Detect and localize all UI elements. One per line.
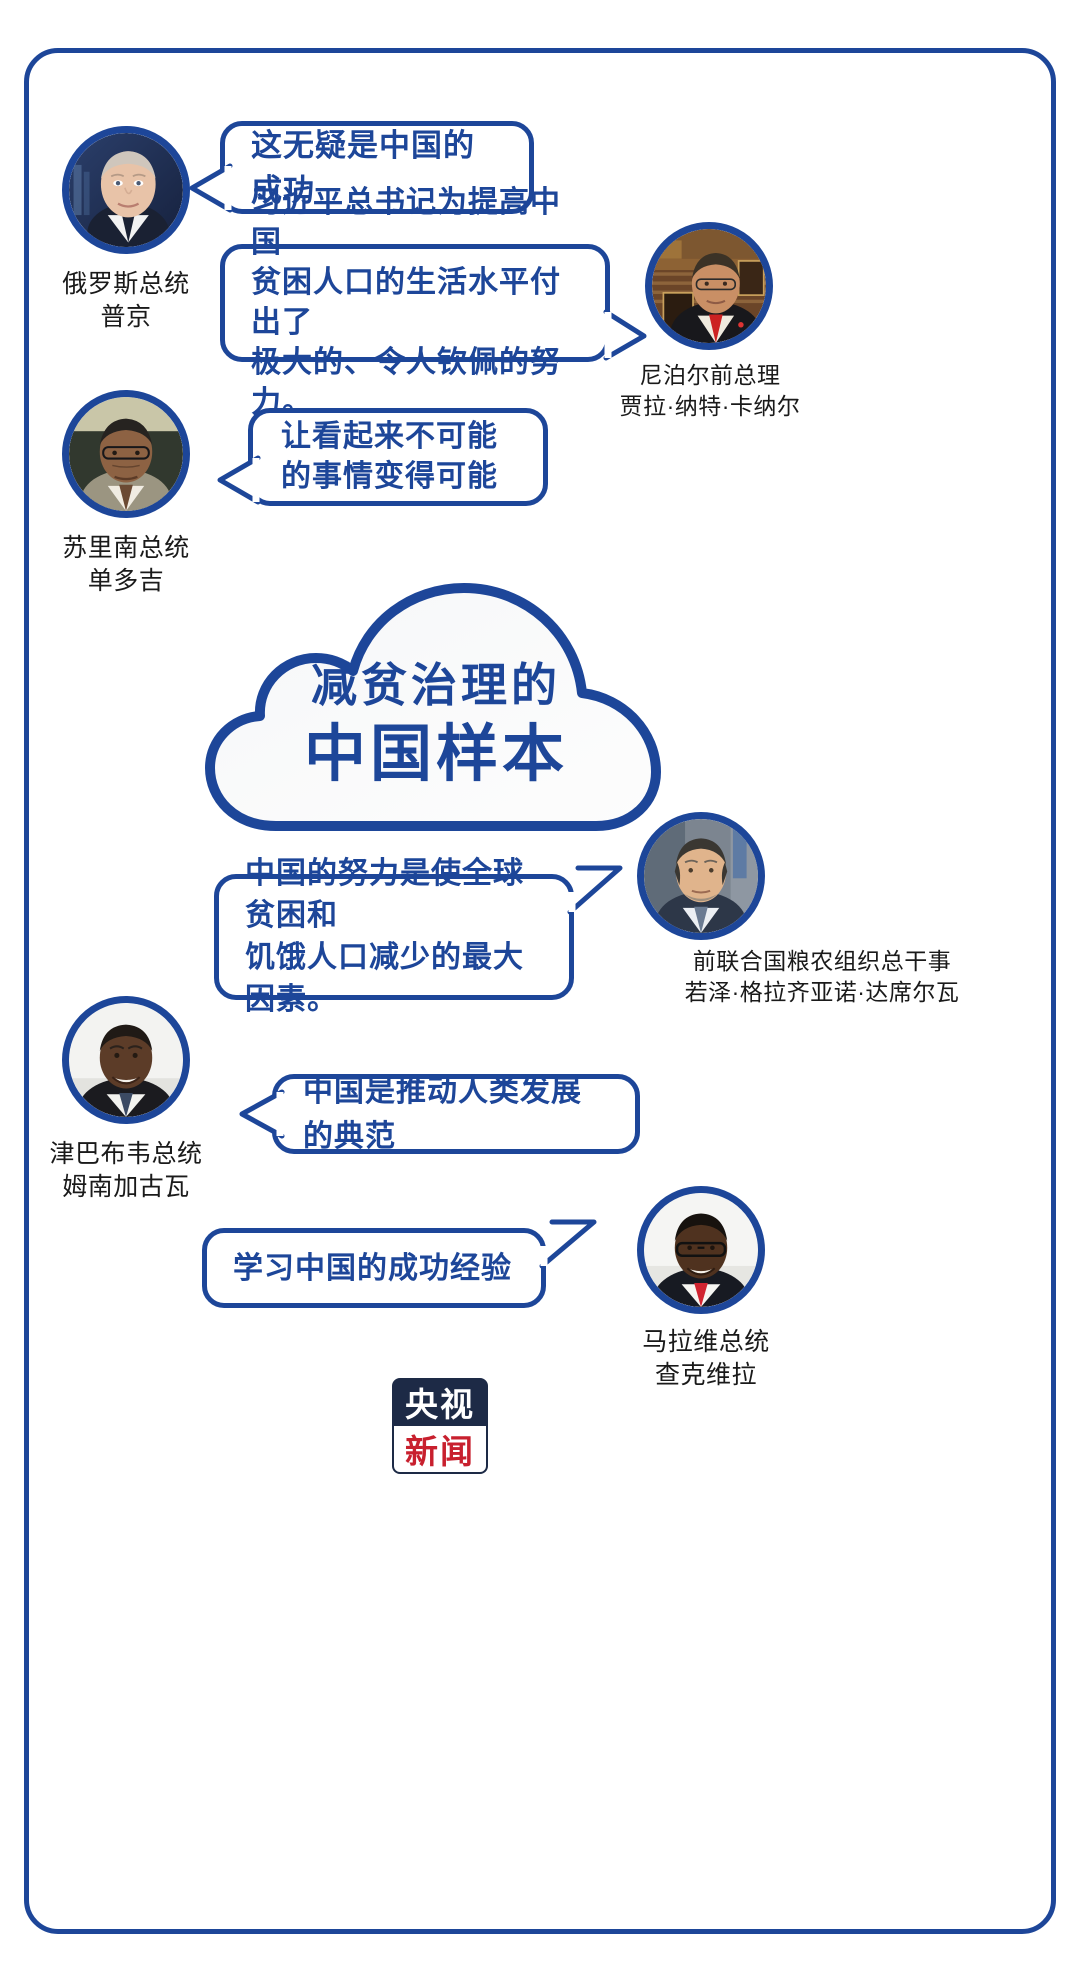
quote-bubble-mnangagwa: 中国是推动人类发展的典范 [272, 1074, 640, 1154]
caption-khanal: 尼泊尔前总理 贾拉·纳特·卡纳尔 [596, 360, 824, 422]
quote-tail-putin [186, 162, 232, 214]
quote-tail-khanal [604, 308, 650, 362]
quote-bubble-santokhi: 让看起来不可能 的事情变得可能 [248, 408, 548, 506]
quote-text-mnangagwa: 中国是推动人类发展的典范 [303, 1069, 609, 1159]
logo-top-text: 央视 [392, 1378, 488, 1426]
avatar-chakwera [637, 1186, 765, 1314]
quote-tail-mnangagwa [236, 1088, 284, 1140]
quote-text-khanal: 习近平总书记为提高中国 贫困人口的生活水平付出了 极大的、令人钦佩的努力。 [251, 183, 579, 423]
avatar-graziano [637, 812, 765, 940]
cloud-title-text: 减贫治理的 中国样本 [196, 654, 676, 794]
quote-text-santokhi: 让看起来不可能 的事情变得可能 [281, 417, 498, 497]
quote-bubble-graziano: 中国的努力是使全球贫困和 饥饿人口减少的最大因素。 [214, 874, 574, 1000]
quote-bubble-khanal: 习近平总书记为提高中国 贫困人口的生活水平付出了 极大的、令人钦佩的努力。 [220, 244, 610, 362]
santokhi-portrait [69, 397, 183, 511]
caption-chakwera: 马拉维总统 查克维拉 [592, 1326, 820, 1392]
cloud-title-line2: 中国样本 [196, 716, 676, 794]
avatar-putin [62, 126, 190, 254]
avatar-mnangagwa [62, 996, 190, 1124]
caption-putin: 俄罗斯总统 普京 [12, 268, 240, 334]
mnangagwa-portrait [69, 1003, 183, 1117]
poster-canvas: 俄罗斯总统 普京 这无疑是中国的成功 [0, 0, 1080, 1982]
quote-tail-santokhi [214, 454, 260, 506]
graziano-da-silva-portrait [644, 819, 758, 933]
chakwera-portrait [644, 1193, 758, 1307]
khanal-portrait [652, 229, 766, 343]
quote-text-graziano: 中国的努力是使全球贫困和 饥饿人口减少的最大因素。 [245, 853, 543, 1021]
avatar-khanal [645, 222, 773, 350]
cloud-title-line1: 减贫治理的 [196, 654, 676, 716]
caption-graziano: 前联合国粮农组织总干事 若泽·格拉齐亚诺·达席尔瓦 [592, 946, 1052, 1008]
cctv-news-logo: 央视 新闻 [392, 1378, 488, 1474]
quote-bubble-chakwera: 学习中国的成功经验 [202, 1228, 546, 1308]
quote-tail-graziano [568, 862, 628, 918]
caption-mnangagwa: 津巴布韦总统 姆南加古瓦 [12, 1138, 240, 1204]
quote-tail-chakwera [540, 1216, 600, 1272]
logo-bottom-text: 新闻 [392, 1426, 488, 1474]
quote-text-chakwera: 学习中国的成功经验 [233, 1246, 512, 1291]
cloud-title-shape: 减贫治理的 中国样本 [196, 580, 676, 842]
avatar-santokhi [62, 390, 190, 518]
putin-portrait [69, 133, 183, 247]
